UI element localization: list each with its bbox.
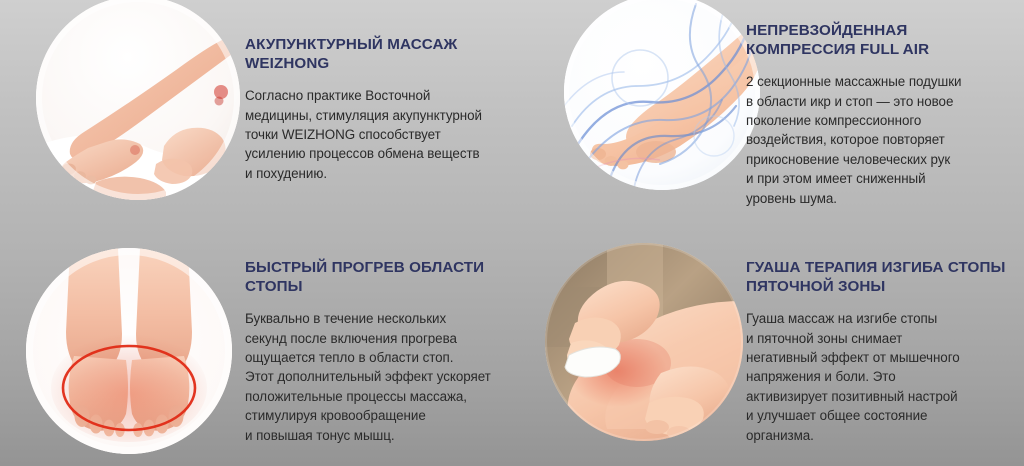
feature-block-heat: БЫСТРЫЙ ПРОГРЕВ ОБЛАСТИ СТОПЫ Буквально …: [245, 259, 513, 445]
feature-heading-fullair: НЕПРЕВЗОЙДЕННАЯ КОМПРЕССИЯ FULL AIR: [746, 22, 1018, 59]
feature-block-weizhong: АКУПУНКТУРНЫЙ МАССАЖ WEIZHONG Согласно п…: [245, 36, 515, 183]
guasha-scraping-photo: [545, 243, 743, 441]
feature-heading-heat: БЫСТРЫЙ ПРОГРЕВ ОБЛАСТИ СТОПЫ: [245, 259, 513, 296]
feature-body-guasha: Гуаша массаж на изгибе стопы и пяточной …: [746, 309, 1018, 445]
feature-body-fullair: 2 секционные массажные подушки в области…: [746, 72, 1018, 208]
feet-heating-zone-photo: [26, 248, 232, 454]
feature-heading-weizhong: АКУПУНКТУРНЫЙ МАССАЖ WEIZHONG: [245, 36, 515, 73]
feature-block-fullair: НЕПРЕВЗОЙДЕННАЯ КОМПРЕССИЯ FULL AIR 2 се…: [746, 22, 1018, 208]
feature-body-weizhong: Согласно практике Восточной медицины, ст…: [245, 86, 515, 183]
feature-heading-guasha: ГУАША ТЕРАПИЯ ИЗГИБА СТОПЫ ПЯТОЧНОЙ ЗОНЫ: [746, 259, 1018, 296]
feature-body-heat: Буквально в течение нескольких секунд по…: [245, 309, 513, 445]
feet-air-compression-photo: [564, 0, 760, 190]
infographic-poster: АКУПУНКТУРНЫЙ МАССАЖ WEIZHONG Согласно п…: [0, 0, 1024, 466]
feature-block-guasha: ГУАША ТЕРАПИЯ ИЗГИБА СТОПЫ ПЯТОЧНОЙ ЗОНЫ…: [746, 259, 1018, 445]
calf-massage-photo: [36, 0, 240, 200]
